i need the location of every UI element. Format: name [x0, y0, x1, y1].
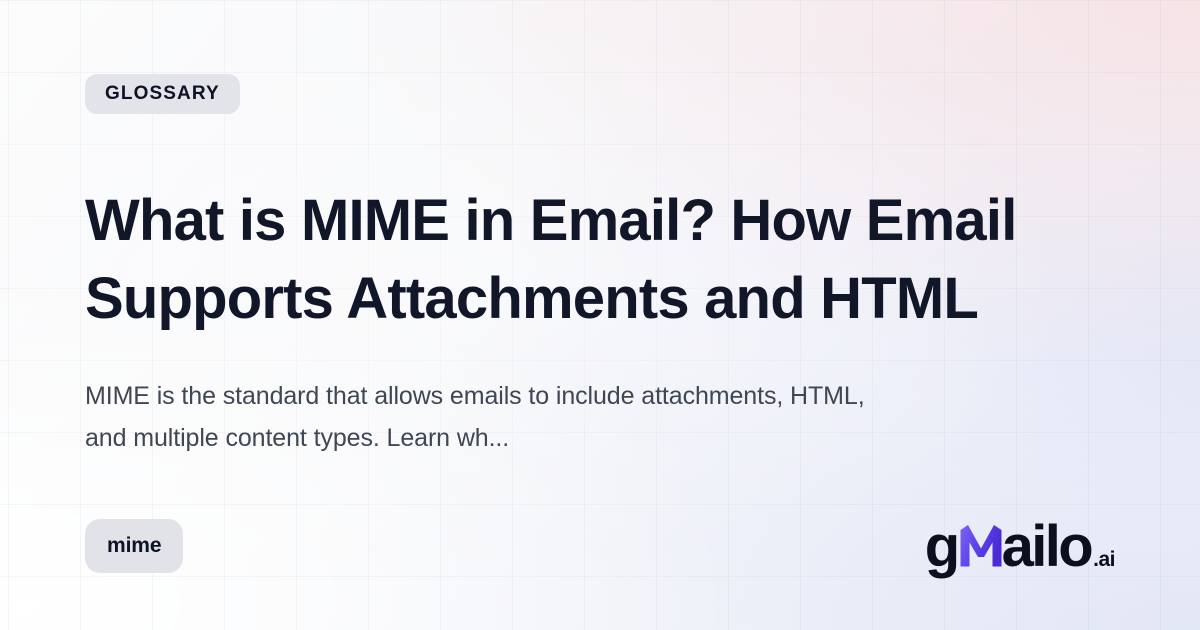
tag-badge-mime: mime	[85, 519, 183, 573]
brand-wordmark: g ailo .ai	[925, 518, 1115, 576]
brand-logo: g ailo .ai	[925, 514, 1115, 576]
page-title: What is MIME in Email? How Email Support…	[85, 182, 1075, 338]
brand-accent-m-icon	[959, 524, 1003, 567]
social-share-card: GLOSSARY What is MIME in Email? How Emai…	[0, 0, 1200, 630]
brand-letter-g: g	[925, 518, 958, 576]
page-description: MIME is the standard that allows emails …	[85, 375, 885, 459]
category-badge: GLOSSARY	[85, 74, 240, 114]
brand-tld-suffix: .ai	[1093, 549, 1115, 570]
brand-letters-ailo: ailo	[1002, 518, 1092, 576]
card-content: GLOSSARY What is MIME in Email? How Emai…	[85, 0, 1115, 630]
